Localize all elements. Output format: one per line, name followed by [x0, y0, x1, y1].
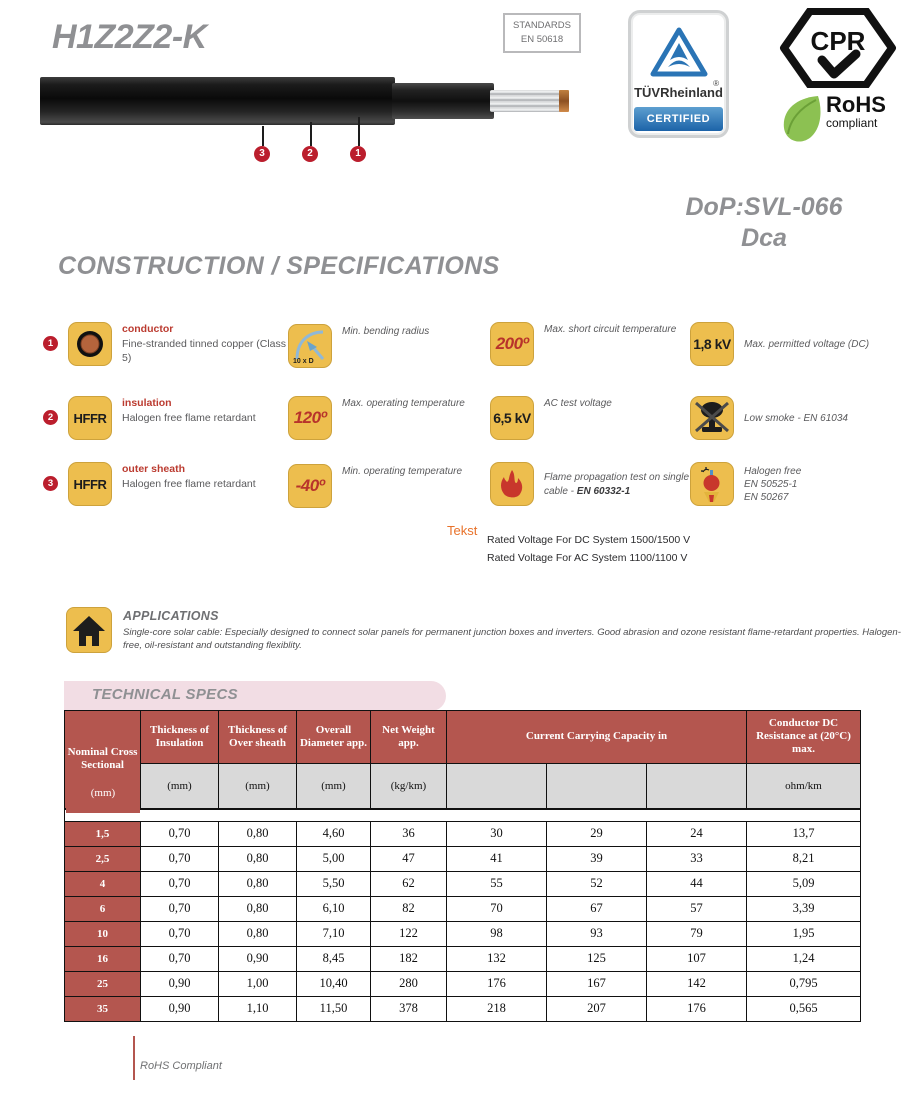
tuv-triangle-icon [650, 27, 708, 79]
construction-heading: CONSTRUCTION / SPECIFICATIONS [58, 252, 500, 281]
spec-title: conductor [122, 323, 298, 337]
spec-halogen-free: Halogen free EN 50525-1 EN 50267 [690, 462, 905, 506]
spec-desc: Max. permitted voltage (DC) [744, 338, 869, 352]
spec-desc-standard: EN 60332-1 [577, 486, 630, 497]
cell-diameter: 7,10 [297, 921, 371, 946]
cell-weight: 82 [371, 896, 447, 921]
spec-desc: Low smoke - EN 61034 [744, 412, 848, 426]
cell-cap1: 218 [447, 996, 547, 1021]
cell-resistance: 5,09 [747, 871, 861, 896]
rated-voltage-block: Rated Voltage For DC System 1500/1500 V … [487, 531, 690, 568]
cell-nominal: 25 [65, 971, 141, 996]
cell-cap2: 167 [547, 971, 647, 996]
hffr-icon: HFFR [68, 462, 112, 506]
cell-weight: 182 [371, 946, 447, 971]
cell-cap1: 70 [447, 896, 547, 921]
standards-label: STANDARDS [507, 19, 577, 33]
svg-text:10 x D: 10 x D [293, 358, 314, 365]
cell-nominal: 6 [65, 896, 141, 921]
callout-badge-3: 3 [254, 146, 270, 162]
spec-max-permitted-voltage: 1,8 kV Max. permitted voltage (DC) [690, 322, 905, 366]
temperature-value: 200º [496, 334, 529, 354]
col-overall-diameter: Overall Diameter app. [297, 711, 371, 764]
cell-resistance: 8,21 [747, 846, 861, 871]
cpr-logo: CPR [778, 8, 898, 88]
cell-cap2: 52 [547, 871, 647, 896]
spec-desc: Min. bending radius [342, 325, 429, 339]
cell-cap2: 39 [547, 846, 647, 871]
spec-desc: Halogen free flame retardant [122, 477, 256, 491]
temperature-value: 120º [294, 408, 327, 428]
cell-cap1: 41 [447, 846, 547, 871]
table-row: 250,901,0010,402801761671420,795 [65, 971, 861, 996]
spec-title: outer sheath [122, 463, 256, 477]
low-smoke-icon [690, 396, 734, 440]
spec-number-1: 1 [43, 336, 58, 351]
spec-low-smoke: Low smoke - EN 61034 [690, 396, 905, 440]
unit-resistance: ohm/km [747, 763, 861, 809]
cell-cap3: 57 [647, 896, 747, 921]
spec-insulation: 2 HFFR insulation Halogen free flame ret… [68, 396, 298, 440]
col-thickness-insulation: Thickness of Insulation [141, 711, 219, 764]
cell-cap1: 98 [447, 921, 547, 946]
dop-number: DoP:SVL-066 [614, 192, 914, 223]
cell-cap2: 29 [547, 821, 647, 846]
flame-icon [490, 462, 534, 506]
spec-bending-radius: 10 x D Min. bending radius [288, 324, 468, 368]
cell-sheath: 0,80 [219, 921, 297, 946]
applications-title: APPLICATIONS [123, 609, 914, 623]
unit-cap2 [547, 763, 647, 809]
unit-weight: (kg/km) [371, 763, 447, 809]
spec-desc: Halogen free flame retardant [122, 411, 256, 425]
table-row: 100,700,807,101229893791,95 [65, 921, 861, 946]
cell-diameter: 4,60 [297, 821, 371, 846]
cell-nominal: 4 [65, 871, 141, 896]
table-header-row: Nominal Cross Sectional Thickness of Ins… [65, 711, 861, 764]
cell-cap1: 132 [447, 946, 547, 971]
home-icon [66, 607, 112, 653]
spec-desc: Max. operating temperature [342, 397, 465, 411]
cell-resistance: 0,795 [747, 971, 861, 996]
cell-nominal: 35 [65, 996, 141, 1021]
unit-cap1 [447, 763, 547, 809]
cell-nominal: 2,5 [65, 846, 141, 871]
cell-diameter: 11,50 [297, 996, 371, 1021]
applications-body: Single-core solar cable: Especially desi… [123, 626, 914, 653]
cell-weight: 62 [371, 871, 447, 896]
cell-cap3: 142 [647, 971, 747, 996]
cell-sheath: 1,00 [219, 971, 297, 996]
spec-ac-test-voltage: 6,5 kV AC test voltage [490, 396, 680, 440]
rohs-logo: RoHS compliant [778, 92, 908, 148]
unit-cap3 [647, 763, 747, 809]
cell-cap1: 30 [447, 821, 547, 846]
rohs-title: RoHS [826, 94, 886, 116]
cell-sheath: 0,80 [219, 896, 297, 921]
spec-desc: Fine-stranded tinned copper (Class 5) [122, 337, 298, 365]
conductor-cross-section-icon [68, 322, 112, 366]
footer-note-line [133, 1036, 135, 1080]
cable-illustration: 3 2 1 [40, 72, 560, 177]
cell-insulation: 0,70 [141, 846, 219, 871]
spec-conductor: 1 conductor Fine-stranded tinned copper … [68, 322, 298, 366]
cell-cap2: 207 [547, 996, 647, 1021]
temperature-icon: 200º [490, 322, 534, 366]
spec-min-operating-temp: -40º Min. operating temperature [288, 464, 468, 508]
cell-insulation: 0,90 [141, 996, 219, 1021]
table-row: 2,50,700,805,00474139338,21 [65, 846, 861, 871]
cell-weight: 378 [371, 996, 447, 1021]
spec-number-3: 3 [43, 476, 58, 491]
leaf-icon [778, 92, 824, 146]
table-row: 1,50,700,804,603630292413,7 [65, 821, 861, 846]
voltage-icon: 1,8 kV [690, 322, 734, 366]
halogen-free-icon [690, 462, 734, 506]
temperature-icon: 120º [288, 396, 332, 440]
cell-cap3: 107 [647, 946, 747, 971]
cell-insulation: 0,70 [141, 821, 219, 846]
unit-nominal: (mm) [66, 772, 140, 813]
table-units-row: (mm) (mm) (mm) (kg/km) ohm/km [65, 763, 861, 809]
voltage-value: 1,8 kV [693, 336, 730, 352]
spec-desc: AC test voltage [544, 397, 612, 411]
cell-diameter: 5,50 [297, 871, 371, 896]
cell-cap1: 176 [447, 971, 547, 996]
cell-cap2: 67 [547, 896, 647, 921]
spec-title: insulation [122, 397, 256, 411]
technical-specs-banner: TECHNICAL SPECS [64, 681, 446, 711]
cell-cap3: 79 [647, 921, 747, 946]
dop-block: DoP:SVL-066 Dca [614, 192, 914, 253]
spec-number-2: 2 [43, 410, 58, 425]
cell-cap2: 93 [547, 921, 647, 946]
spec-desc: Halogen free EN 50525-1 EN 50267 [744, 465, 801, 504]
cell-cap3: 33 [647, 846, 747, 871]
registered-mark-icon: ® [713, 79, 719, 88]
cell-sheath: 1,10 [219, 996, 297, 1021]
rohs-text: RoHS compliant [826, 94, 886, 130]
cell-diameter: 10,40 [297, 971, 371, 996]
cell-diameter: 6,10 [297, 896, 371, 921]
cpr-hexagon-icon: CPR [778, 8, 898, 88]
cell-nominal: 10 [65, 921, 141, 946]
tuv-rheinland-logo: TÜVRheinland ® CERTIFIED [628, 10, 729, 138]
temperature-icon: -40º [288, 464, 332, 508]
cell-diameter: 8,45 [297, 946, 371, 971]
cell-insulation: 0,70 [141, 946, 219, 971]
spec-short-circuit-temp: 200º Max. short circuit temperature [490, 322, 680, 366]
cell-weight: 36 [371, 821, 447, 846]
spec-flame-propagation: Flame propagation test on single cable -… [490, 462, 690, 506]
cable-outer-sheath [40, 77, 395, 125]
tekst-annotation: Tekst [447, 523, 477, 538]
standards-box: STANDARDS EN 50618 [503, 13, 581, 53]
col-conductor-dc-resistance: Conductor DC Resistance at (20°C) max. [747, 711, 861, 764]
callout-line-3 [262, 126, 264, 146]
callout-line-2 [310, 122, 312, 146]
bending-radius-icon: 10 x D [288, 324, 332, 368]
spec-max-operating-temp: 120º Max. operating temperature [288, 396, 468, 440]
tuv-certified-badge: CERTIFIED [634, 107, 723, 131]
cell-cap1: 55 [447, 871, 547, 896]
temperature-value: -40º [296, 476, 325, 496]
table-row: 60,700,806,10827067573,39 [65, 896, 861, 921]
cell-resistance: 0,565 [747, 996, 861, 1021]
cell-sheath: 0,80 [219, 821, 297, 846]
cell-cap3: 176 [647, 996, 747, 1021]
cell-insulation: 0,90 [141, 971, 219, 996]
technical-specs-table: Nominal Cross Sectional Thickness of Ins… [64, 710, 861, 1022]
page-title: H1Z2Z2-K [52, 18, 207, 57]
cable-conductor-strands [490, 90, 565, 112]
cell-diameter: 5,00 [297, 846, 371, 871]
cell-nominal: 16 [65, 946, 141, 971]
cable-insulation [392, 83, 494, 119]
hffr-icon: HFFR [68, 396, 112, 440]
cell-cap3: 44 [647, 871, 747, 896]
cell-resistance: 1,24 [747, 946, 861, 971]
cell-weight: 280 [371, 971, 447, 996]
hffr-label: HFFR [73, 411, 106, 426]
rated-voltage-dc: Rated Voltage For DC System 1500/1500 V [487, 531, 690, 549]
tuv-name-label: TÜVRheinland [631, 85, 726, 100]
cell-weight: 47 [371, 846, 447, 871]
cell-weight: 122 [371, 921, 447, 946]
cell-insulation: 0,70 [141, 896, 219, 921]
cell-nominal: 1,5 [65, 821, 141, 846]
table-row: 40,700,805,50625552445,09 [65, 871, 861, 896]
spec-desc: Max. short circuit temperature [544, 323, 676, 337]
cell-resistance: 13,7 [747, 821, 861, 846]
col-current-carrying-capacity: Current Carrying Capacity in [447, 711, 747, 764]
spec-desc: Min. operating temperature [342, 465, 462, 479]
callout-badge-2: 2 [302, 146, 318, 162]
col-thickness-over-sheath: Thickness of Over sheath [219, 711, 297, 764]
standards-value: EN 50618 [507, 33, 577, 47]
callout-line-1 [358, 117, 360, 146]
dop-class: Dca [614, 223, 914, 254]
voltage-value: 6,5 kV [493, 410, 530, 426]
unit-insulation: (mm) [141, 763, 219, 809]
voltage-icon: 6,5 kV [490, 396, 534, 440]
unit-sheath: (mm) [219, 763, 297, 809]
table-row: 160,700,908,451821321251071,24 [65, 946, 861, 971]
cell-resistance: 3,39 [747, 896, 861, 921]
cell-insulation: 0,70 [141, 921, 219, 946]
cell-cap3: 24 [647, 821, 747, 846]
spec-desc: Flame propagation test on single cable -… [544, 471, 690, 498]
col-net-weight: Net Weight app. [371, 711, 447, 764]
technical-specs-title: TECHNICAL SPECS [92, 686, 238, 703]
cell-insulation: 0,70 [141, 871, 219, 896]
cable-copper-tip [559, 90, 569, 112]
cell-sheath: 0,80 [219, 871, 297, 896]
callout-badge-1: 1 [350, 146, 366, 162]
applications-block: APPLICATIONS Single-core solar cable: Es… [66, 607, 914, 653]
cell-sheath: 0,90 [219, 946, 297, 971]
rohs-subtitle: compliant [826, 116, 886, 130]
cell-resistance: 1,95 [747, 921, 861, 946]
hffr-label: HFFR [73, 477, 106, 492]
table-row: 350,901,1011,503782182071760,565 [65, 996, 861, 1021]
cell-cap2: 125 [547, 946, 647, 971]
table-spacer-row [65, 809, 861, 822]
unit-diameter: (mm) [297, 763, 371, 809]
rated-voltage-ac: Rated Voltage For AC System 1100/1100 V [487, 549, 690, 567]
footer-note-text: RoHS Compliant [140, 1060, 222, 1072]
cell-sheath: 0,80 [219, 846, 297, 871]
spec-outer-sheath: 3 HFFR outer sheath Halogen free flame r… [68, 462, 298, 506]
